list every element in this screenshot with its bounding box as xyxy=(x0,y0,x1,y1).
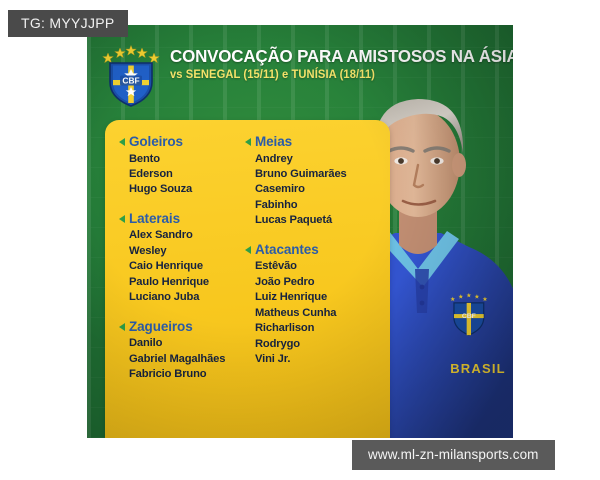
player-name: Fabricio Bruno xyxy=(119,367,244,382)
position-group-goleiros: Goleiros Bento Ederson Hugo Souza xyxy=(119,134,244,198)
player-name: Danilo xyxy=(119,336,244,351)
player-name: Estêvão xyxy=(245,259,385,274)
player-name: Bruno Guimarães xyxy=(245,167,385,182)
player-name: Casemiro xyxy=(245,182,385,197)
player-name: Rodrygo xyxy=(245,337,385,352)
jersey-country-text: BRASIL xyxy=(450,361,506,376)
bullet-marker-icon xyxy=(119,138,125,146)
site-url-watermark: www.ml-zn-milansports.com xyxy=(352,440,555,470)
position-group-laterais: Laterais Alex Sandro Wesley Caio Henriqu… xyxy=(119,211,244,306)
group-header: Meias xyxy=(245,134,385,150)
player-name: Andrey xyxy=(245,152,385,167)
player-name: Fabinho xyxy=(245,198,385,213)
player-name: Richarlison xyxy=(245,321,385,336)
polo-button xyxy=(420,285,425,290)
player-name: Gabriel Magalhães xyxy=(119,352,244,367)
player-name: Alex Sandro xyxy=(119,228,244,243)
player-name: Vini Jr. xyxy=(245,352,385,367)
player-name: Lucas Paquetá xyxy=(245,213,385,228)
squad-column-right: Meias Andrey Bruno Guimarães Casemiro Fa… xyxy=(245,134,385,367)
polo-button xyxy=(420,301,425,306)
squad-list-card: Goleiros Bento Ederson Hugo Souza Latera… xyxy=(105,120,390,438)
squad-column-left: Goleiros Bento Ederson Hugo Souza Latera… xyxy=(119,134,244,383)
position-group-meias: Meias Andrey Bruno Guimarães Casemiro Fa… xyxy=(245,134,385,229)
player-name: Matheus Cunha xyxy=(245,306,385,321)
group-title: Goleiros xyxy=(129,134,183,150)
screenshot-canvas: CBF CONVOCAÇÃO PARA AMISTOSOS NA ÁSIA vs… xyxy=(0,0,600,480)
group-title: Zagueiros xyxy=(129,319,193,335)
convocation-poster-image: CBF CONVOCAÇÃO PARA AMISTOSOS NA ÁSIA vs… xyxy=(87,25,513,438)
group-title: Atacantes xyxy=(255,242,319,258)
bullet-marker-icon xyxy=(245,246,251,254)
group-header: Goleiros xyxy=(119,134,244,150)
player-name: Wesley xyxy=(119,244,244,259)
player-name: João Pedro xyxy=(245,275,385,290)
player-name: Hugo Souza xyxy=(119,182,244,197)
position-group-zagueiros: Zagueiros Danilo Gabriel Magalhães Fabri… xyxy=(119,319,244,383)
telegram-watermark-label: TG: MYYJJPP xyxy=(8,10,128,37)
jersey-crest-text: CBF xyxy=(462,313,476,320)
player-name: Paulo Henrique xyxy=(119,275,244,290)
crest-text: CBF xyxy=(122,75,139,85)
bullet-marker-icon xyxy=(119,215,125,223)
player-name: Caio Henrique xyxy=(119,259,244,274)
group-title: Laterais xyxy=(129,211,180,227)
group-header: Laterais xyxy=(119,211,244,227)
cbf-crest-icon: CBF xyxy=(100,42,162,108)
player-name: Luiz Henrique xyxy=(245,290,385,305)
player-name: Ederson xyxy=(119,167,244,182)
position-group-atacantes: Atacantes Estêvão João Pedro Luiz Henriq… xyxy=(245,242,385,368)
bullet-marker-icon xyxy=(245,138,251,146)
group-header: Zagueiros xyxy=(119,319,244,335)
bullet-marker-icon xyxy=(119,323,125,331)
player-name: Luciano Juba xyxy=(119,290,244,305)
player-name: Bento xyxy=(119,152,244,167)
ear-right xyxy=(452,153,466,177)
polo-placket xyxy=(415,269,429,313)
group-header: Atacantes xyxy=(245,242,385,258)
group-title: Meias xyxy=(255,134,292,150)
